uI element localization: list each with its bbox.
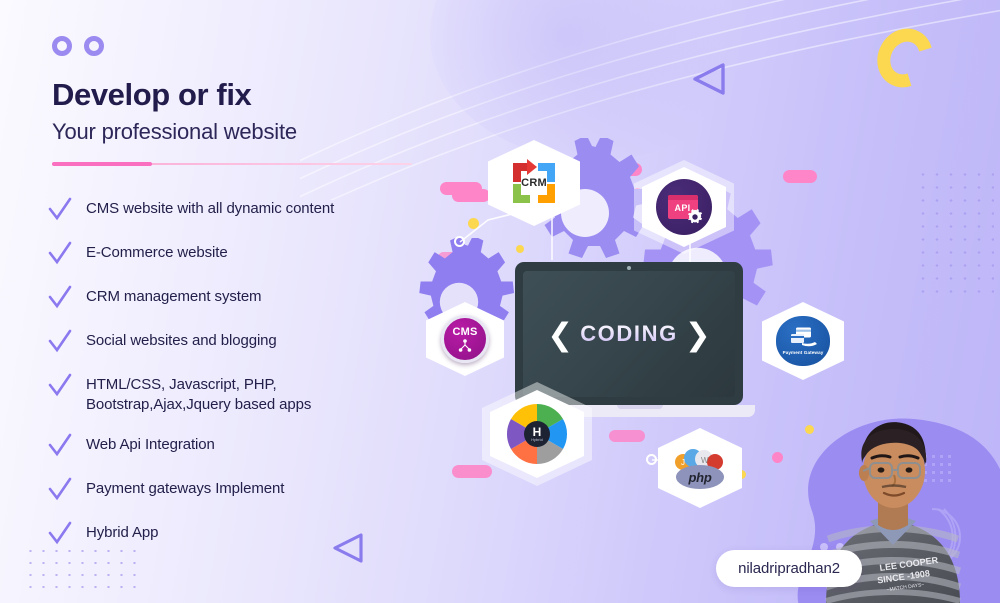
crm-label: CRM [521, 177, 547, 189]
feature-item: HTML/CSS, Javascript, PHP,Bootstrap,Ajax… [48, 372, 448, 415]
php-logo-ellipse: php [676, 465, 724, 489]
dot-grid-right [916, 168, 994, 294]
feature-label: Hybrid App [86, 520, 158, 543]
check-icon [48, 197, 72, 223]
chevron-left-icon: ❮ [547, 319, 573, 350]
svg-text:J: J [681, 458, 685, 467]
hybrid-platform-wheel: H Hybrid [506, 403, 568, 465]
feature-item: Web Api Integration [48, 432, 448, 459]
svg-text:W: W [701, 456, 709, 465]
api-icon: API [656, 179, 712, 235]
feature-label: HTML/CSS, Javascript, PHP,Bootstrap,Ajax… [86, 372, 311, 415]
feature-item: Hybrid App [48, 520, 448, 547]
check-icon [48, 285, 72, 311]
connector-node-1 [454, 236, 465, 247]
triangle-outline-top [692, 62, 726, 96]
check-icon [48, 433, 72, 459]
hybrid-sublabel: Hybrid [531, 438, 543, 442]
payment-gateway-icon: Payment Gateway [776, 316, 830, 366]
ring-decor-one [52, 36, 72, 56]
crescent-moon-icon [867, 19, 943, 97]
headline-block: Develop or fix Your professional website [52, 78, 452, 166]
check-icon [48, 241, 72, 267]
check-icon [48, 373, 72, 399]
underline-accent [52, 162, 152, 166]
check-icon [48, 329, 72, 355]
check-icon [48, 521, 72, 547]
feature-label: CRM management system [86, 284, 261, 307]
laptop-camera [627, 266, 631, 270]
node-network-icon [457, 339, 473, 352]
feature-item: E-Commerce website [48, 240, 448, 267]
chevron-right-icon: ❯ [685, 319, 711, 350]
payment-label: Payment Gateway [783, 350, 824, 356]
cms-label: CMS [452, 327, 477, 338]
connector-node-2 [646, 454, 657, 465]
feature-item: CRM management system [48, 284, 448, 311]
hybrid-core-badge: H Hybrid [524, 421, 550, 447]
feature-label: E-Commerce website [86, 240, 228, 263]
feature-label: Payment gateways Implement [86, 476, 284, 499]
php-label: php [689, 470, 712, 485]
ring-decor-two [84, 36, 104, 56]
laptop-body: ❮ CODING ❯ [515, 262, 743, 405]
feature-item: Payment gateways Implement [48, 476, 448, 503]
page-title: Develop or fix [52, 78, 452, 112]
crm-icon: CRM [507, 157, 561, 209]
laptop-notch [617, 405, 663, 409]
feature-label: Social websites and blogging [86, 328, 277, 351]
title-underline [52, 162, 412, 166]
check-icon [48, 477, 72, 503]
laptop-screen: ❮ CODING ❯ [523, 271, 735, 397]
hybrid-letter: H [533, 426, 542, 438]
feature-item: CMS website with all dynamic content [48, 196, 448, 223]
php-icon: J W php [671, 445, 729, 491]
author-block: LEE COOPER SINCE -1908 ~MATCH DAYS~ nila… [770, 378, 1000, 603]
page-subtitle: Your professional website [52, 119, 452, 145]
promo-banner: Develop or fix Your professional website… [0, 0, 1000, 603]
gear-icon-api [686, 208, 704, 226]
feature-list: CMS website with all dynamic contentE-Co… [48, 196, 448, 564]
card-hand-icon [788, 326, 818, 348]
author-username-badge[interactable]: niladripradhan2 [716, 550, 862, 587]
feature-label: CMS website with all dynamic content [86, 196, 334, 219]
feature-item: Social websites and blogging [48, 328, 448, 355]
coding-label: CODING [580, 321, 678, 347]
cms-icon: CMS [441, 315, 489, 363]
feature-label: Web Api Integration [86, 432, 215, 455]
